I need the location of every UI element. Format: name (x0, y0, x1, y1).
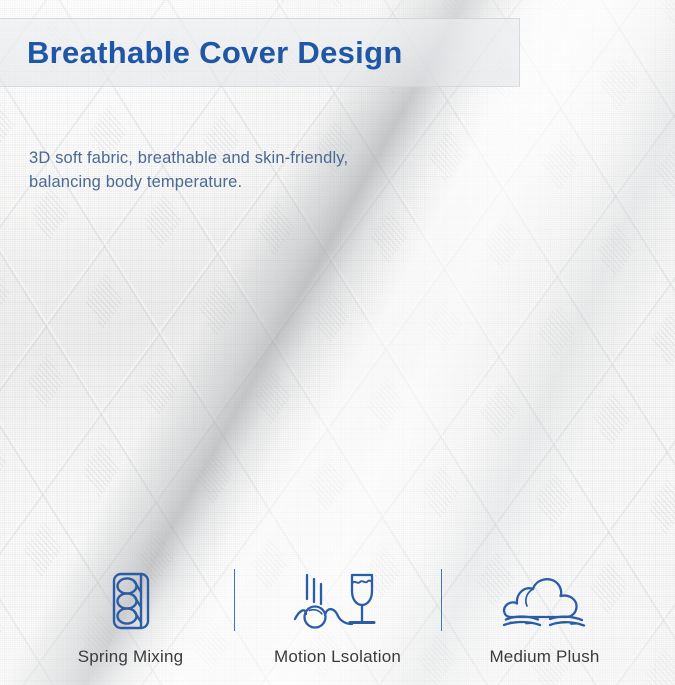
feature-label: Motion Lsolation (274, 647, 401, 667)
title-banner: Breathable Cover Design (0, 18, 520, 87)
spring-coils-icon (108, 569, 154, 631)
feature-item-medium-plush: Medium Plush (450, 569, 640, 667)
product-feature-banner: Breathable Cover Design 3D soft fabric, … (0, 0, 675, 685)
feature-divider-2 (441, 569, 442, 631)
feature-divider-1 (234, 569, 235, 631)
subtitle-text: 3D soft fabric, breathable and skin-frie… (29, 146, 499, 195)
ball-and-wine-glass-icon (294, 569, 382, 631)
feature-item-motion-isolation: Motion Lsolation (243, 569, 433, 667)
feature-item-spring-mixing: Spring Mixing (36, 569, 226, 667)
cloud-plush-icon (500, 569, 590, 631)
subtitle-line-1: 3D soft fabric, breathable and skin-frie… (29, 146, 499, 170)
page-title: Breathable Cover Design (0, 37, 403, 68)
subtitle-line-2: balancing body temperature. (29, 170, 499, 194)
feature-strip: Spring Mixing (0, 557, 675, 667)
feature-label: Medium Plush (489, 647, 599, 667)
feature-label: Spring Mixing (78, 647, 184, 667)
